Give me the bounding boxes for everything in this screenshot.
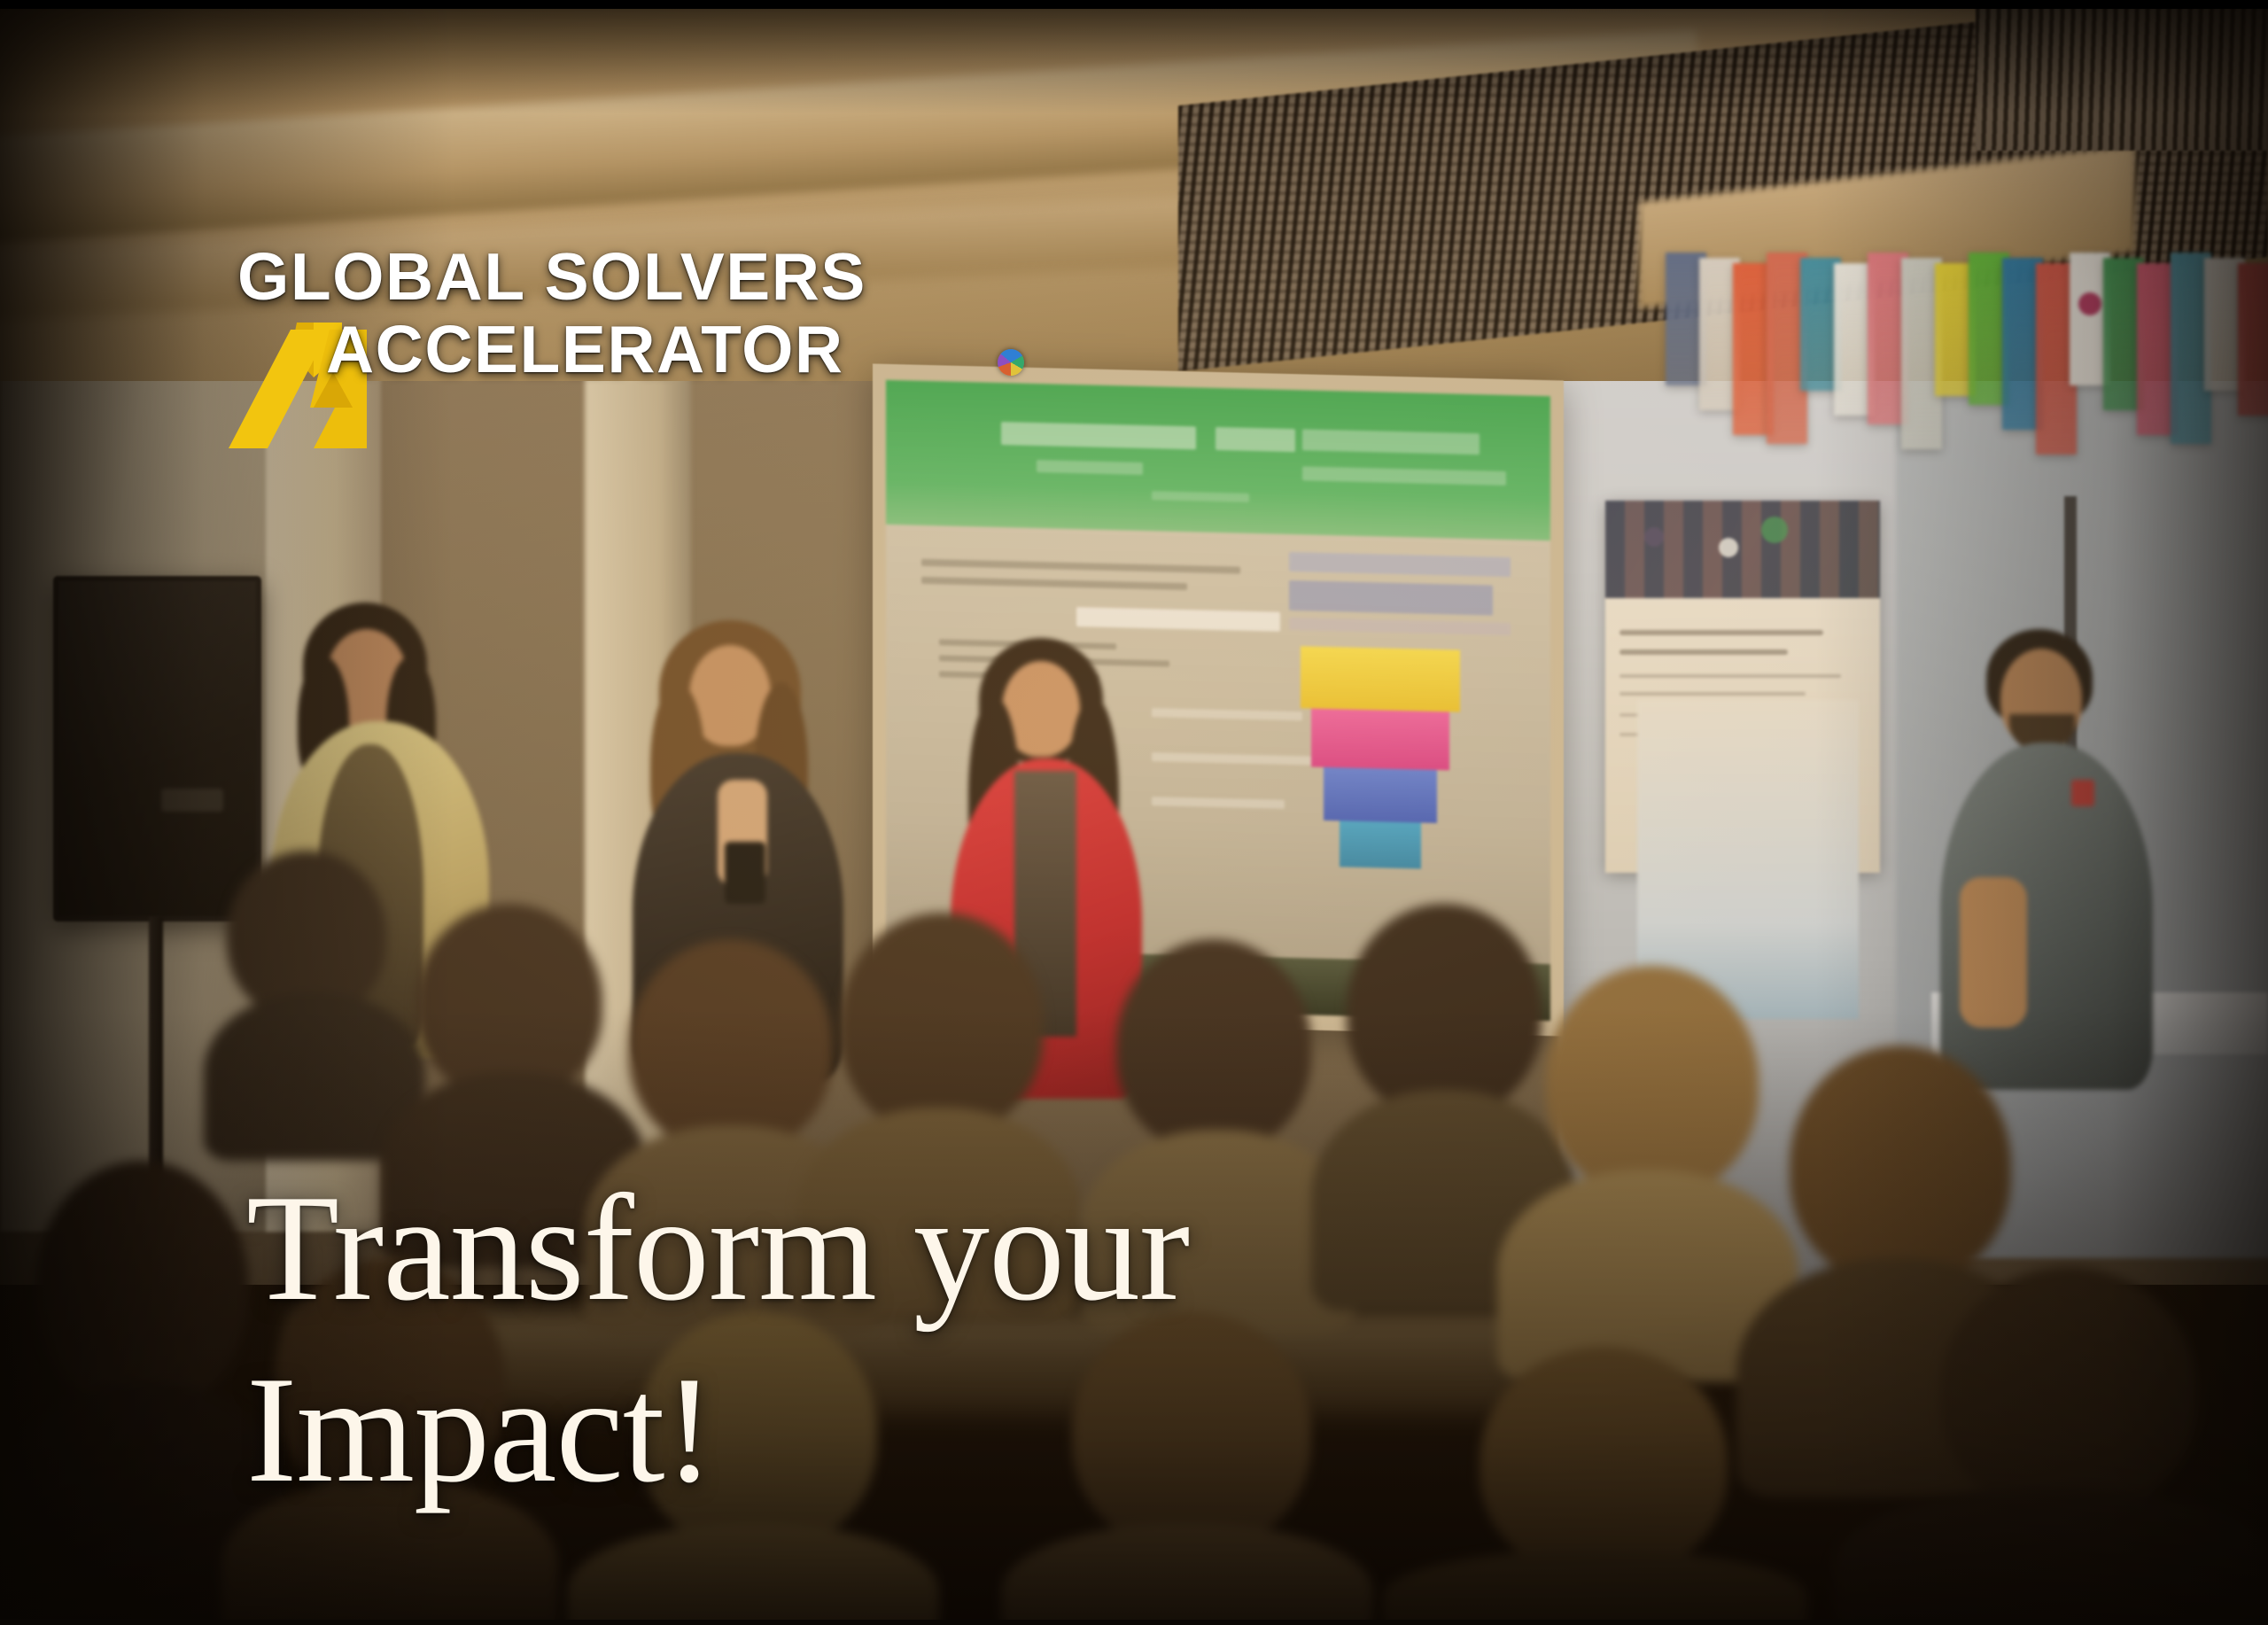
poster-text-line xyxy=(1619,630,1823,635)
slide-header-band xyxy=(886,380,1550,542)
audience-member xyxy=(1834,1267,2268,1625)
brand-logo[interactable]: GLOBAL SOLVERS ACCELERATOR xyxy=(237,245,866,382)
letterbox-bottom xyxy=(0,1620,2268,1625)
poster-text-line xyxy=(1619,649,1788,655)
headline-line-1: Transform your xyxy=(246,1171,1189,1326)
hanging-national-flags xyxy=(1666,253,2268,465)
headline: Transform your Impact! xyxy=(246,1171,1189,1509)
standing-attendee-right xyxy=(1940,629,2162,1090)
headline-line-2: Impact! xyxy=(246,1353,1189,1508)
globe-dot-icon xyxy=(998,349,1024,376)
logo-line-1: GLOBAL SOLVERS xyxy=(237,245,866,310)
logo-line-2: ACCELERATOR xyxy=(237,317,866,383)
flag xyxy=(2238,263,2268,416)
logo-line-2-text: ACCELERATOR xyxy=(326,312,844,386)
poster-text-line xyxy=(1619,674,1841,678)
poster-banner-image xyxy=(1605,501,1880,598)
flag-emblem xyxy=(2078,292,2101,315)
video-frame-canvas: GLOBAL SOLVERS ACCELERATOR Transform you… xyxy=(0,0,2268,1625)
speaker-stand-pole xyxy=(149,917,163,1183)
logo-wordmark: GLOBAL SOLVERS ACCELERATOR xyxy=(237,245,866,382)
slide-funnel-graphic xyxy=(1301,646,1460,711)
audience-member xyxy=(1382,1347,1807,1625)
ceiling-grille-panel-small xyxy=(1976,0,2268,151)
poster-text-line xyxy=(1619,692,1806,696)
letterbox-top xyxy=(0,0,2268,9)
